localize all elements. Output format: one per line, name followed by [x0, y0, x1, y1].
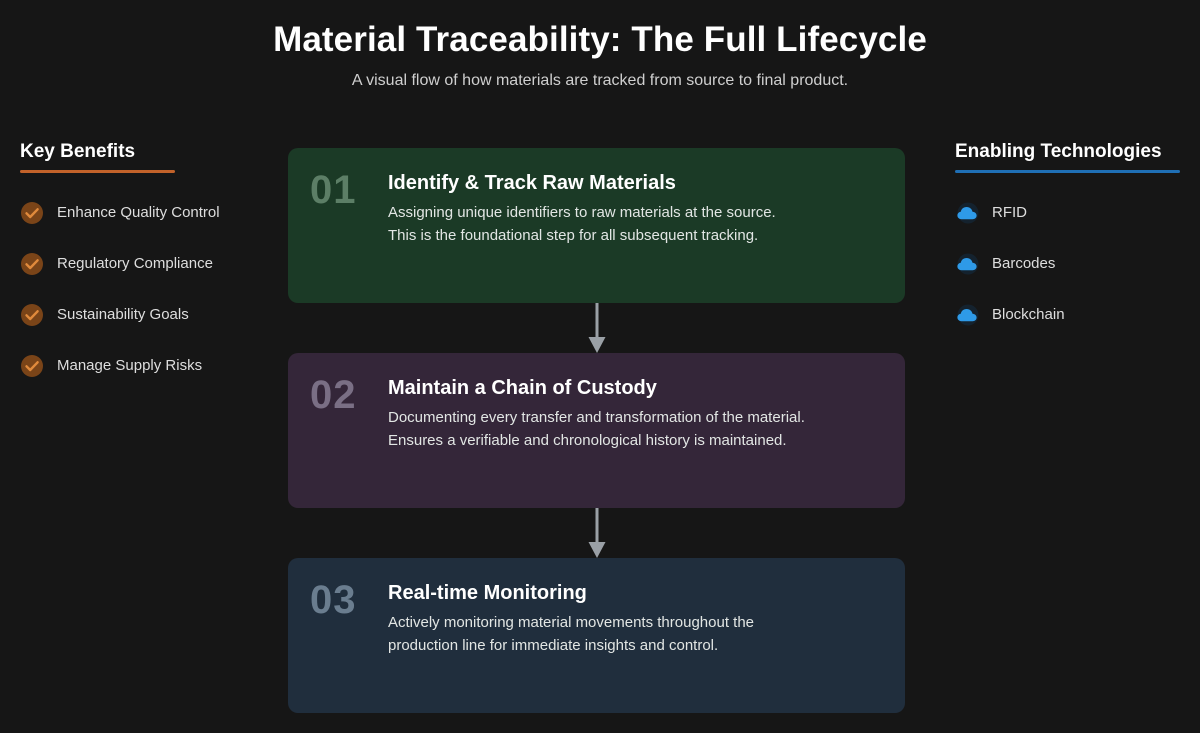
step-title: Identify & Track Raw Materials [388, 170, 776, 196]
step-description-line-1: Documenting every transfer and transform… [388, 406, 805, 429]
benefit-item-1[interactable]: Enhance Quality Control [20, 199, 270, 227]
page-header: Material Traceability: The Full Lifecycl… [0, 18, 1200, 92]
benefit-item-4[interactable]: Manage Supply Risks [20, 352, 270, 380]
step-description-line-1: Assigning unique identifiers to raw mate… [388, 201, 776, 224]
technology-item-1[interactable]: RFID [955, 199, 1190, 227]
step-title: Real-time Monitoring [388, 580, 754, 606]
step-description-line-2: This is the foundational step for all su… [388, 224, 776, 247]
cloud-icon [955, 304, 981, 326]
benefit-item-label: Sustainability Goals [57, 305, 189, 325]
check-circle-icon [20, 252, 44, 276]
page-subtitle: A visual flow of how materials are track… [0, 70, 1200, 92]
flow-connector-2 [288, 508, 905, 558]
step-description-line-2: Ensures a verifiable and chronological h… [388, 429, 805, 452]
enabling-technologies-heading: Enabling Technologies [955, 140, 1190, 164]
technology-item-label: RFID [992, 203, 1027, 223]
technology-item-2[interactable]: Barcodes [955, 250, 1190, 278]
page-title: Material Traceability: The Full Lifecycl… [0, 18, 1200, 62]
enabling-technologies-underline [955, 170, 1180, 173]
benefit-item-3[interactable]: Sustainability Goals [20, 301, 270, 329]
key-benefits-heading: Key Benefits [20, 140, 270, 164]
step-description-line-2: production line for immediate insights a… [388, 634, 754, 657]
enabling-technologies-panel: Enabling Technologies RFID [955, 140, 1190, 329]
benefit-item-label: Enhance Quality Control [57, 203, 220, 223]
step-card-02[interactable]: 02 Maintain a Chain of Custody Documenti… [288, 353, 905, 508]
step-body: Maintain a Chain of Custody Documenting … [388, 373, 805, 452]
technology-item-label: Blockchain [992, 305, 1065, 325]
cloud-icon [955, 253, 981, 275]
benefit-item-2[interactable]: Regulatory Compliance [20, 250, 270, 278]
benefit-item-label: Regulatory Compliance [57, 254, 213, 274]
key-benefits-panel: Key Benefits Enhance Quality Control [20, 140, 270, 380]
key-benefits-underline [20, 170, 175, 173]
step-title: Maintain a Chain of Custody [388, 375, 805, 401]
lifecycle-flow: 01 Identify & Track Raw Materials Assign… [288, 148, 905, 713]
check-circle-icon [20, 354, 44, 378]
check-circle-icon [20, 201, 44, 225]
infographic-page: Material Traceability: The Full Lifecycl… [0, 0, 1200, 733]
step-description-line-1: Actively monitoring material movements t… [388, 611, 754, 634]
benefit-item-label: Manage Supply Risks [57, 356, 202, 376]
down-arrow-icon [585, 508, 609, 558]
step-body: Identify & Track Raw Materials Assigning… [388, 168, 776, 247]
enabling-technologies-list: RFID Barcodes Blockcha [955, 199, 1190, 329]
down-arrow-icon [585, 303, 609, 353]
technology-item-3[interactable]: Blockchain [955, 301, 1190, 329]
technology-item-label: Barcodes [992, 254, 1055, 274]
flow-connector-1 [288, 303, 905, 353]
step-number: 01 [310, 168, 388, 212]
key-benefits-list: Enhance Quality Control Regulatory Compl… [20, 199, 270, 380]
step-number: 02 [310, 373, 388, 417]
check-circle-icon [20, 303, 44, 327]
step-body: Real-time Monitoring Actively monitoring… [388, 578, 754, 657]
step-number: 03 [310, 578, 388, 622]
cloud-icon [955, 202, 981, 224]
step-card-01[interactable]: 01 Identify & Track Raw Materials Assign… [288, 148, 905, 303]
step-card-03[interactable]: 03 Real-time Monitoring Actively monitor… [288, 558, 905, 713]
